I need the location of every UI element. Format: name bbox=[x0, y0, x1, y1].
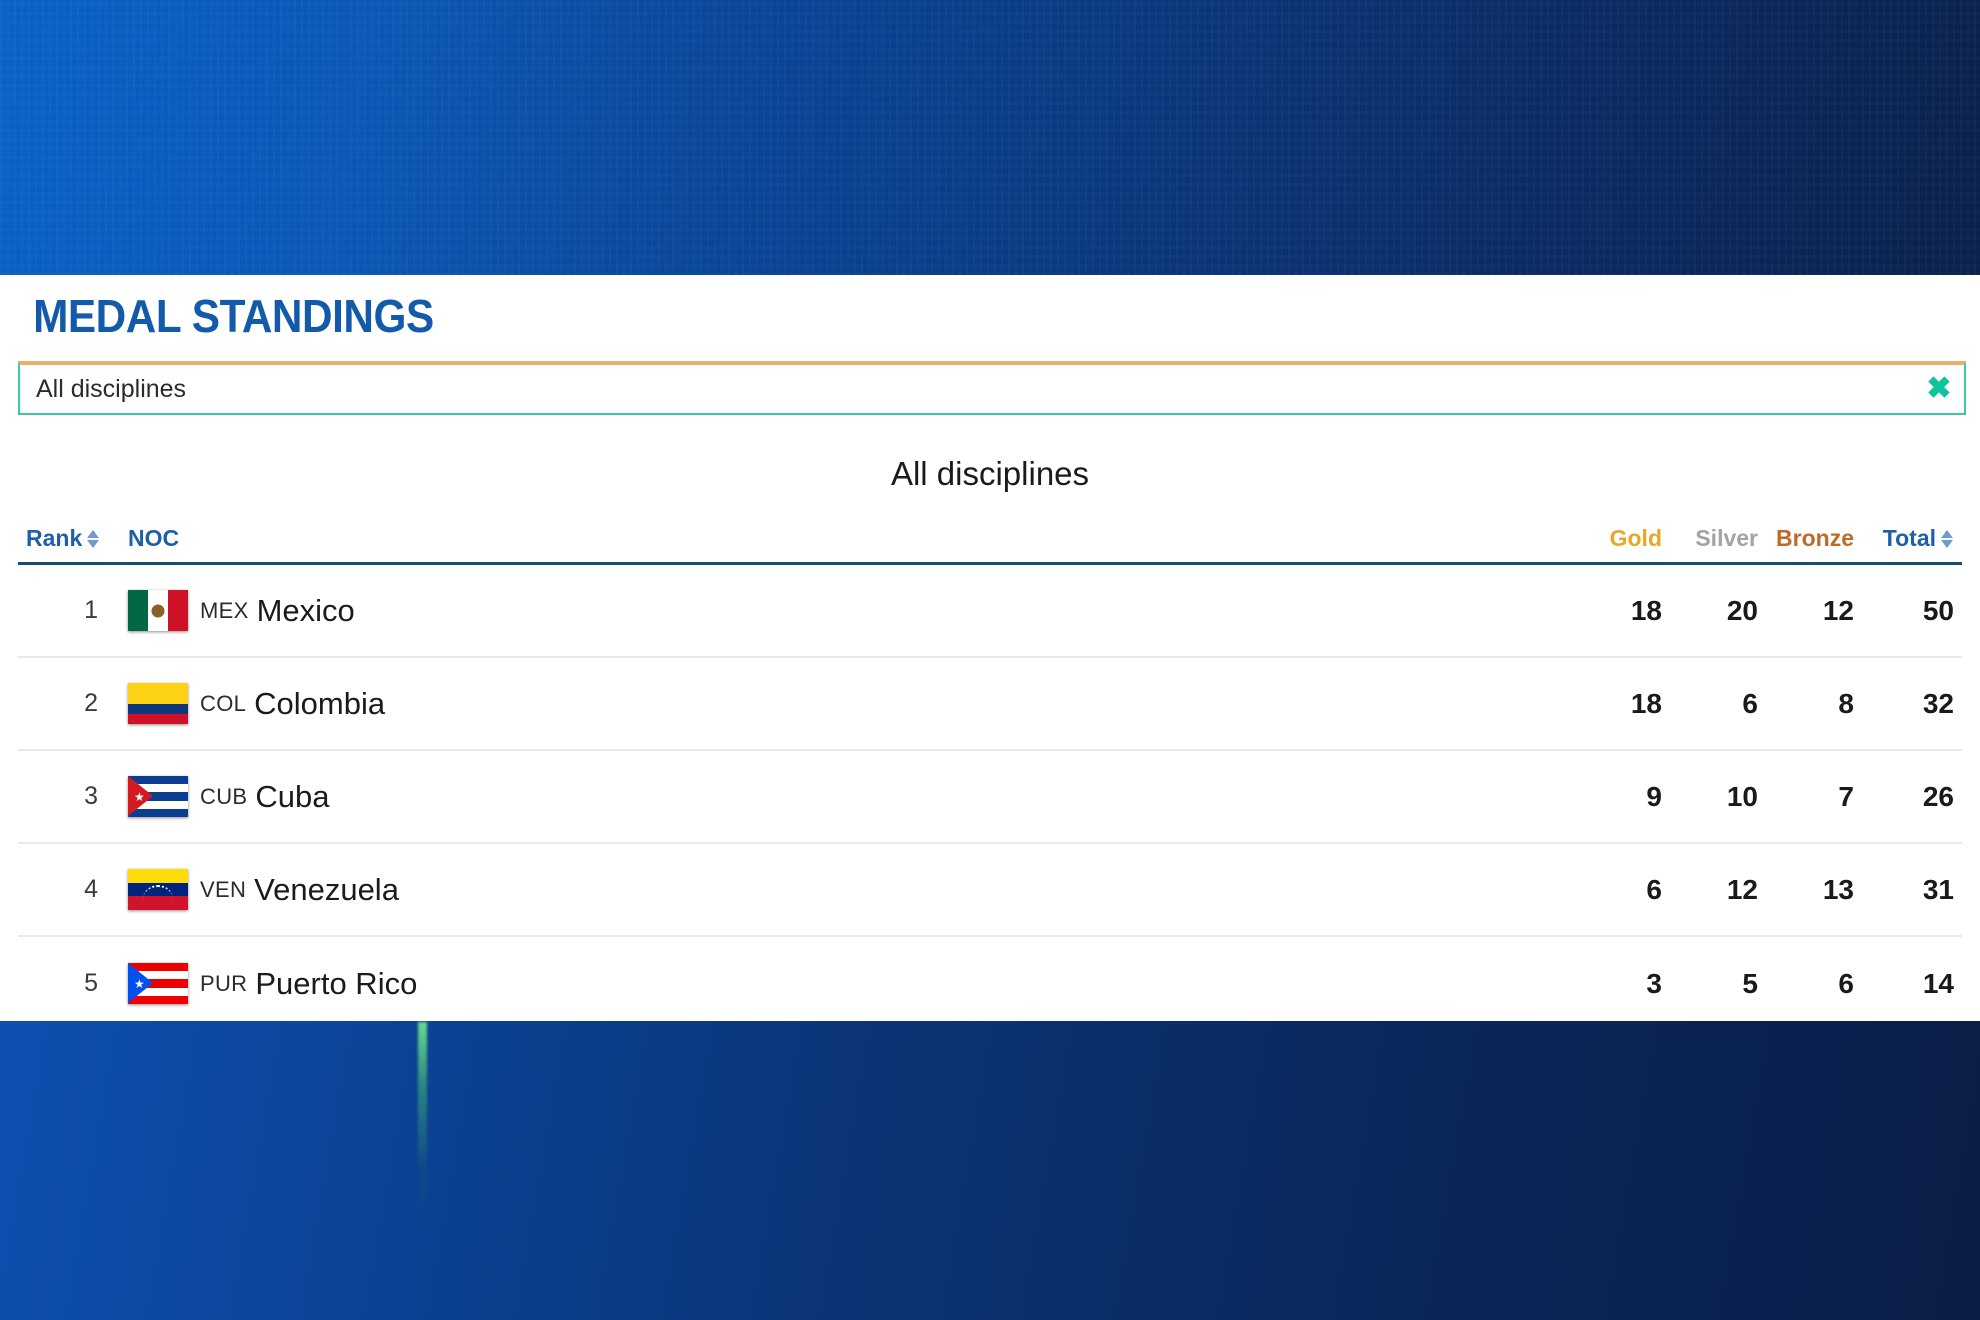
column-header-bronze[interactable]: Bronze bbox=[1758, 525, 1854, 552]
medal-standings-panel: MEDAL STANDINGS ✖ All disciplines Rank N… bbox=[0, 275, 1980, 1021]
background-bottom-gradient bbox=[0, 1020, 1980, 1320]
row-silver: 12 bbox=[1662, 874, 1758, 906]
row-noc-name: Venezuela bbox=[254, 872, 399, 908]
row-rank: 2 bbox=[26, 689, 106, 718]
row-bronze: 7 bbox=[1758, 781, 1854, 813]
row-rank: 5 bbox=[26, 969, 106, 998]
row-noc-name: Cuba bbox=[255, 779, 329, 815]
table-row[interactable]: 2 COL Colombia 18 6 8 32 bbox=[18, 658, 1962, 751]
page-title: MEDAL STANDINGS bbox=[0, 275, 1822, 343]
row-silver: 10 bbox=[1662, 781, 1758, 813]
row-noc: VEN Venezuela bbox=[106, 869, 1566, 910]
column-header-total-label: Total bbox=[1883, 525, 1936, 552]
row-bronze: 13 bbox=[1758, 874, 1854, 906]
flag-colombia-icon bbox=[128, 683, 188, 724]
row-gold: 3 bbox=[1566, 968, 1662, 1000]
flag-mexico-icon bbox=[128, 590, 188, 631]
table-row[interactable]: 1 MEX Mexico 18 20 12 50 bbox=[18, 565, 1962, 658]
search-input[interactable] bbox=[20, 365, 1964, 413]
row-noc: ★ CUB Cuba bbox=[106, 776, 1566, 817]
row-noc-name: Puerto Rico bbox=[255, 966, 417, 1002]
row-bronze: 8 bbox=[1758, 688, 1854, 720]
flag-venezuela-icon bbox=[128, 869, 188, 910]
row-noc: ★ PUR Puerto Rico bbox=[106, 963, 1566, 1004]
table-row[interactable]: 3 ★ CUB Cuba 9 10 7 26 bbox=[18, 751, 1962, 844]
column-header-noc-label: NOC bbox=[128, 525, 179, 552]
row-rank: 4 bbox=[26, 875, 106, 904]
row-noc-code: COL bbox=[200, 691, 246, 717]
row-noc: COL Colombia bbox=[106, 683, 1566, 724]
row-total: 32 bbox=[1854, 688, 1954, 720]
row-rank: 3 bbox=[26, 782, 106, 811]
close-x-icon[interactable]: ✖ bbox=[1924, 374, 1954, 404]
column-header-gold[interactable]: Gold bbox=[1566, 525, 1662, 552]
column-header-rank-label: Rank bbox=[26, 525, 82, 552]
row-noc-code: MEX bbox=[200, 598, 249, 624]
column-header-bronze-label: Bronze bbox=[1776, 525, 1854, 552]
table-row[interactable]: 4 VEN Venezuela 6 12 13 31 bbox=[18, 844, 1962, 937]
row-rank: 1 bbox=[26, 596, 106, 625]
column-header-silver-label: Silver bbox=[1695, 525, 1758, 552]
row-noc-code: VEN bbox=[200, 877, 246, 903]
row-noc: MEX Mexico bbox=[106, 590, 1566, 631]
row-silver: 6 bbox=[1662, 688, 1758, 720]
row-silver: 20 bbox=[1662, 595, 1758, 627]
sort-icon-total[interactable] bbox=[1941, 528, 1954, 550]
table-row[interactable]: 5 ★ PUR Puerto Rico 3 5 6 14 bbox=[18, 937, 1962, 1030]
column-header-total[interactable]: Total bbox=[1854, 525, 1954, 552]
column-header-noc[interactable]: NOC bbox=[106, 525, 1566, 552]
row-gold: 9 bbox=[1566, 781, 1662, 813]
row-total: 14 bbox=[1854, 968, 1954, 1000]
row-gold: 6 bbox=[1566, 874, 1662, 906]
row-total: 26 bbox=[1854, 781, 1954, 813]
row-noc-name: Colombia bbox=[254, 686, 385, 722]
row-total: 50 bbox=[1854, 595, 1954, 627]
flag-puerto-rico-icon: ★ bbox=[128, 963, 188, 1004]
section-title: All disciplines bbox=[0, 455, 1980, 493]
table-header-row: Rank NOC Gold Silver Bronze Total bbox=[18, 525, 1962, 565]
medal-table: Rank NOC Gold Silver Bronze Total 1 bbox=[18, 525, 1962, 1030]
row-total: 31 bbox=[1854, 874, 1954, 906]
row-bronze: 6 bbox=[1758, 968, 1854, 1000]
row-gold: 18 bbox=[1566, 688, 1662, 720]
flag-cuba-icon: ★ bbox=[128, 776, 188, 817]
sort-icon-rank[interactable] bbox=[87, 528, 100, 550]
column-header-gold-label: Gold bbox=[1610, 525, 1662, 552]
discipline-search[interactable]: ✖ bbox=[18, 361, 1966, 415]
row-noc-code: PUR bbox=[200, 971, 247, 997]
row-bronze: 12 bbox=[1758, 595, 1854, 627]
row-noc-name: Mexico bbox=[257, 593, 355, 629]
column-header-silver[interactable]: Silver bbox=[1662, 525, 1758, 552]
row-noc-code: CUB bbox=[200, 784, 247, 810]
row-gold: 18 bbox=[1566, 595, 1662, 627]
row-silver: 5 bbox=[1662, 968, 1758, 1000]
column-header-rank[interactable]: Rank bbox=[26, 525, 106, 552]
